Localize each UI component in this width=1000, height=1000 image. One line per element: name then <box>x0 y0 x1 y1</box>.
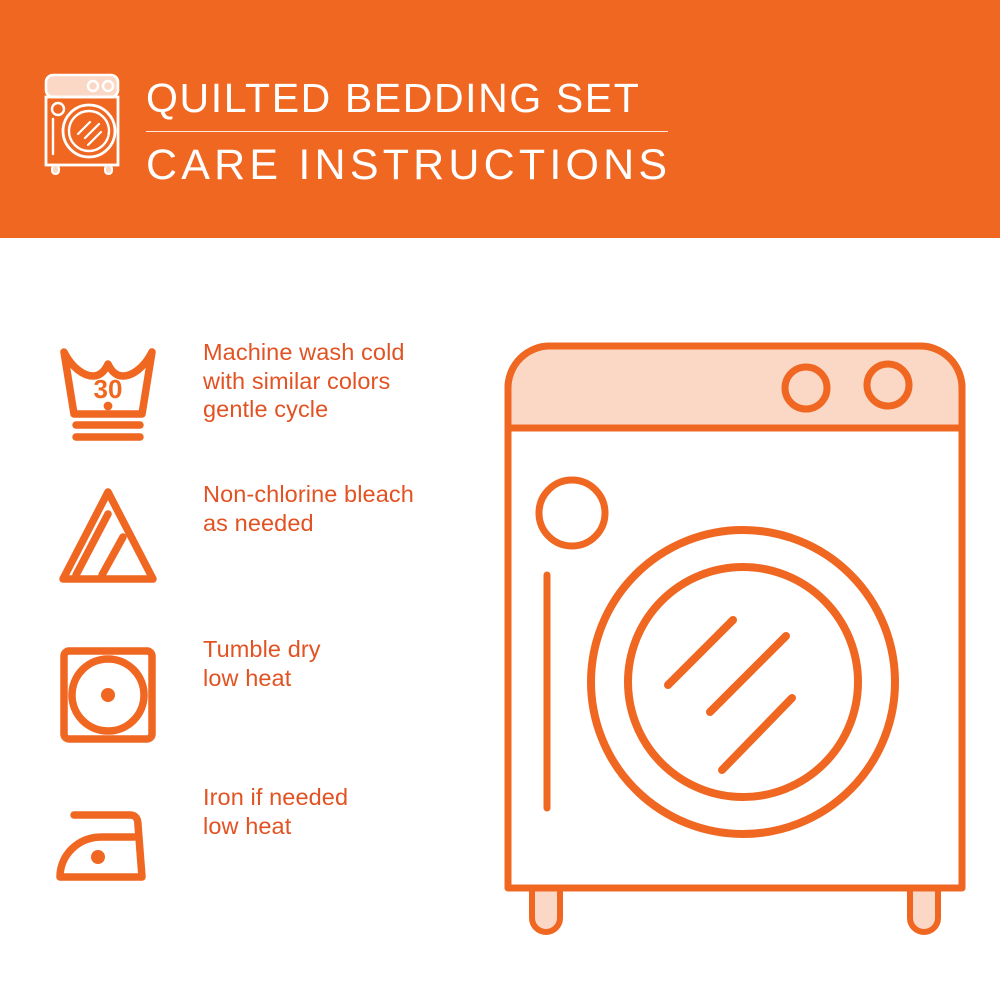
care-text-line: Non-chlorine bleach <box>203 480 478 509</box>
care-text-line: with similar colors <box>203 367 478 396</box>
care-item-text: Tumble dry low heat <box>203 635 478 692</box>
care-item-iron: Iron if needed low heat <box>0 783 480 913</box>
care-text-line: low heat <box>203 664 478 693</box>
care-text-line: Iron if needed <box>203 783 478 812</box>
iron-icon <box>48 783 168 903</box>
care-item-bleach: Non-chlorine bleach as needed <box>0 480 480 610</box>
care-text-line: Tumble dry <box>203 635 478 664</box>
tumble-dry-icon <box>48 635 168 755</box>
page-subtitle: CARE INSTRUCTIONS <box>146 140 706 190</box>
care-item-text: Non-chlorine bleach as needed <box>203 480 478 537</box>
header-banner: QUILTED BEDDING SET CARE INSTRUCTIONS <box>0 0 1000 238</box>
washing-machine-icon <box>43 72 129 176</box>
care-item-text: Machine wash cold with similar colors ge… <box>203 338 478 424</box>
care-text-line: gentle cycle <box>203 395 478 424</box>
care-text-line: as needed <box>203 509 478 538</box>
front-load-washing-machine-illustration <box>490 330 980 950</box>
care-text-line: Machine wash cold <box>203 338 478 367</box>
page-title: QUILTED BEDDING SET <box>146 74 706 122</box>
washer-legs <box>532 885 938 932</box>
wash-tub-icon: 30 <box>48 338 168 458</box>
care-instruction-list: 30 Machine wash cold with similar colors… <box>0 238 500 1000</box>
care-item-text: Iron if needed low heat <box>203 783 478 840</box>
bleach-triangle-icon <box>48 480 168 600</box>
care-item-tumble-dry: Tumble dry low heat <box>0 635 480 765</box>
care-text-line: low heat <box>203 812 478 841</box>
header-text-block: QUILTED BEDDING SET CARE INSTRUCTIONS <box>146 74 706 190</box>
title-divider <box>146 131 668 132</box>
knob-left <box>785 367 827 409</box>
wash-temperature-label: 30 <box>94 374 123 404</box>
knob-right <box>867 364 909 406</box>
care-item-machine-wash: 30 Machine wash cold with similar colors… <box>0 338 480 468</box>
